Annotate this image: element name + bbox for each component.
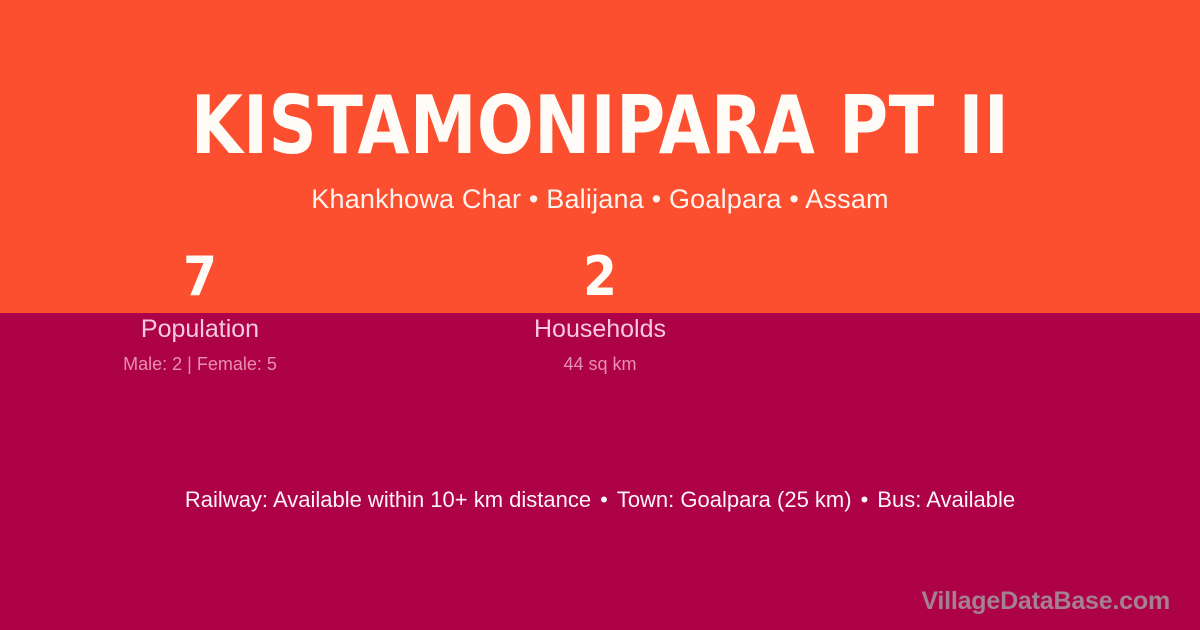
bus-fact: Bus: Available [877,487,1015,512]
stats-row: 7 Population Male: 2 | Female: 5 2 House… [0,248,800,375]
population-value: 7 [0,248,400,306]
location-breadcrumb: Khankhowa Char • Balijana • Goalpara • A… [0,182,1200,216]
page-title: KISTAMONIPARA PT II [42,80,1158,172]
stat-households: 2 Households 44 sq km [400,248,800,375]
population-label: Population [0,314,400,344]
town-fact: Town: Goalpara (25 km) [617,487,852,512]
facts-separator-1: • [591,486,617,514]
households-label: Households [400,314,800,344]
village-info-card: KISTAMONIPARA PT II Khankhowa Char • Bal… [0,0,1200,630]
area-value: 44 sq km [400,353,800,375]
site-watermark: VillageDataBase.com [921,586,1170,616]
railway-fact: Railway: Available within 10+ km distanc… [185,487,591,512]
population-gender-breakdown: Male: 2 | Female: 5 [0,353,400,375]
stat-population: 7 Population Male: 2 | Female: 5 [0,248,400,375]
facts-separator-2: • [852,486,878,514]
households-value: 2 [400,248,800,306]
connectivity-facts-line: Railway: Available within 10+ km distanc… [0,486,1200,514]
